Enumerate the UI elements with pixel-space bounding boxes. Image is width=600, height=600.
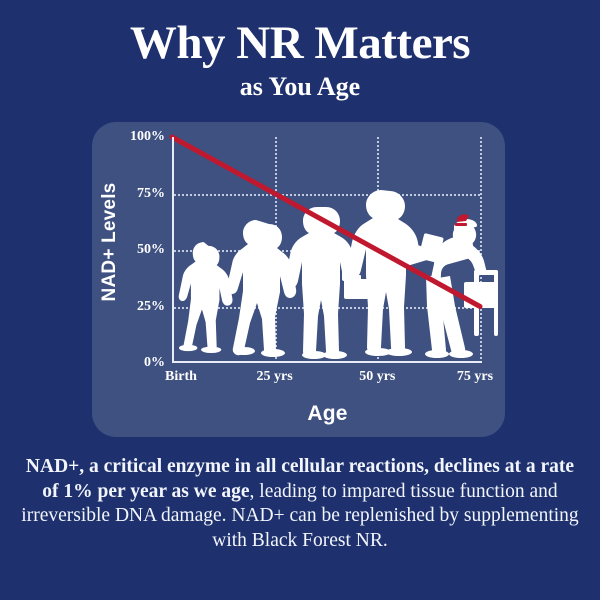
title-subtitle: as You Age: [0, 72, 600, 102]
plot-area: 100% 75% 50% 25% 0% Birth 25 yrs 50 yrs …: [172, 137, 480, 363]
y-axis-line: [172, 137, 174, 363]
y-tick-75: 75%: [137, 186, 165, 202]
x-tick-75yrs: 75 yrs: [457, 369, 493, 385]
x-tick-50yrs: 50 yrs: [359, 369, 395, 385]
y-tick-0: 0%: [144, 355, 165, 371]
title-main: Why NR Matters: [0, 18, 600, 68]
x-axis-title-text: Age: [307, 402, 347, 425]
trend-line-group: [172, 137, 480, 363]
y-tick-50: 50%: [137, 242, 165, 258]
y-tick-25: 25%: [137, 299, 165, 315]
chart-panel: NAD+ Levels: [92, 122, 505, 437]
body-paragraph: NAD+, a critical enzyme in all cellular …: [18, 455, 582, 553]
x-tick-birth: Birth: [165, 369, 197, 385]
y-tick-100: 100%: [130, 129, 165, 145]
nad-decline-line: [172, 137, 480, 307]
x-tick-25yrs: 25 yrs: [257, 369, 293, 385]
x-axis-line: [172, 361, 482, 363]
gridline-75yrs: [480, 137, 482, 363]
x-axis-title: Age: [92, 402, 505, 426]
y-axis-title: NAD+ Levels: [99, 183, 121, 302]
page-title: Why NR Matters as You Age: [0, 18, 600, 102]
